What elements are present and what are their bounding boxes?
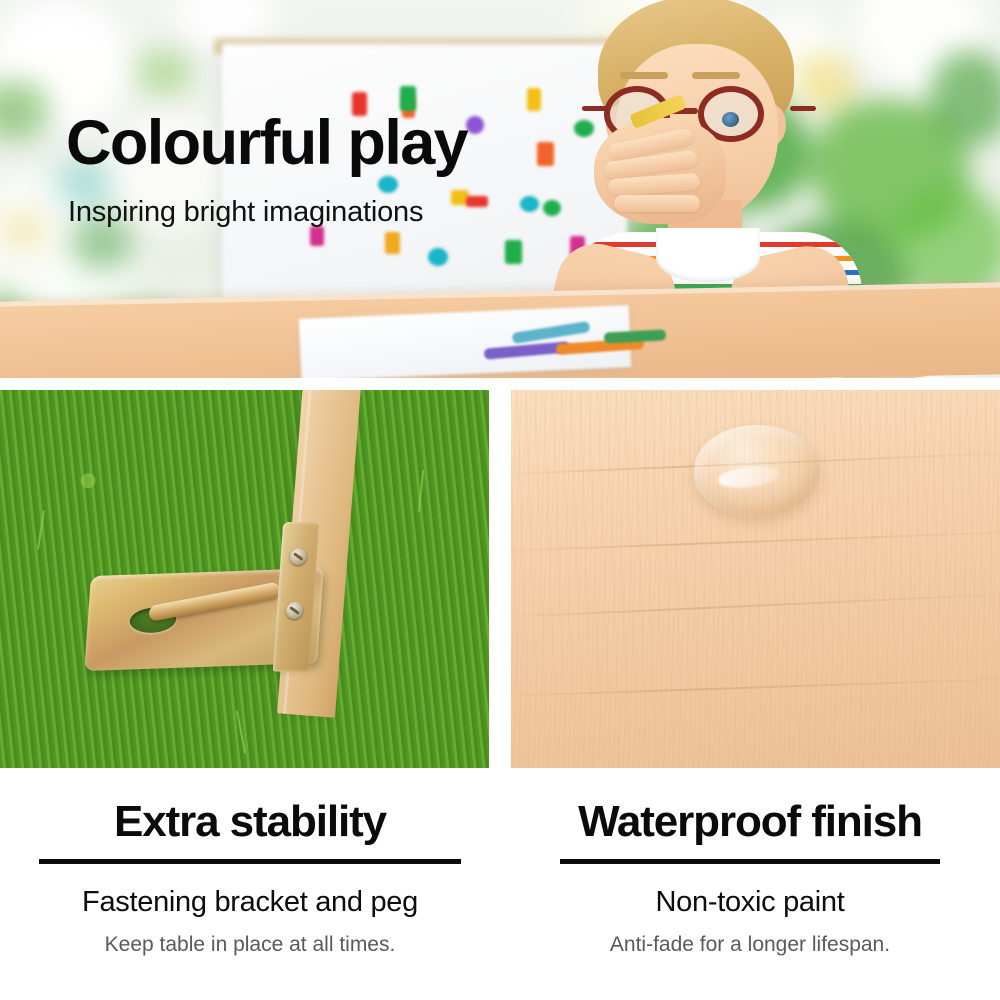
panel-extra-stability-image [0, 390, 489, 768]
caption-title: Extra stability [0, 800, 500, 844]
magnet [466, 196, 488, 207]
magnet [385, 232, 400, 254]
eye-right [722, 112, 739, 127]
magnet [505, 240, 522, 264]
caption-divider [39, 859, 461, 864]
feature-panels [0, 390, 1000, 768]
caption-note: Anti-fade for a longer lifespan. [500, 933, 1000, 957]
hero-subtitle: Inspiring bright imaginations [68, 196, 423, 229]
hero-image: Colourful play Inspiring bright imaginat… [0, 0, 1000, 378]
eyebrow-right [692, 72, 740, 79]
shirt-collar [656, 228, 760, 282]
magnet [537, 142, 554, 166]
product-feature-graphic: Colourful play Inspiring bright imaginat… [0, 0, 1000, 1000]
caption-subtitle: Fastening bracket and peg [0, 886, 500, 919]
caption-title: Waterproof finish [500, 800, 1000, 844]
magnet [520, 196, 539, 212]
screw-bottom [285, 602, 303, 619]
magnet [378, 176, 398, 193]
caption-waterproof-finish: Waterproof finish Non-toxic paint Anti-f… [500, 768, 1000, 957]
glasses-temple-right [790, 106, 816, 111]
screw-top [289, 548, 307, 565]
caption-subtitle: Non-toxic paint [500, 886, 1000, 919]
magnet [310, 226, 324, 246]
panel-waterproof-finish-image [511, 390, 1000, 768]
droplet-highlight [717, 463, 781, 490]
water-droplet [694, 425, 820, 517]
clasped-hands [594, 118, 726, 224]
magnet [543, 200, 561, 216]
magnet [527, 88, 541, 111]
caption-extra-stability: Extra stability Fastening bracket and pe… [0, 768, 500, 957]
eyebrow-left [620, 72, 668, 79]
bracket-peg [148, 581, 280, 622]
hero-title: Colourful play [66, 112, 467, 175]
magnet [466, 116, 484, 134]
caption-note: Keep table in place at all times. [0, 933, 500, 957]
caption-divider [560, 859, 940, 864]
glasses-temple-left [582, 106, 608, 111]
magnet [428, 248, 448, 266]
